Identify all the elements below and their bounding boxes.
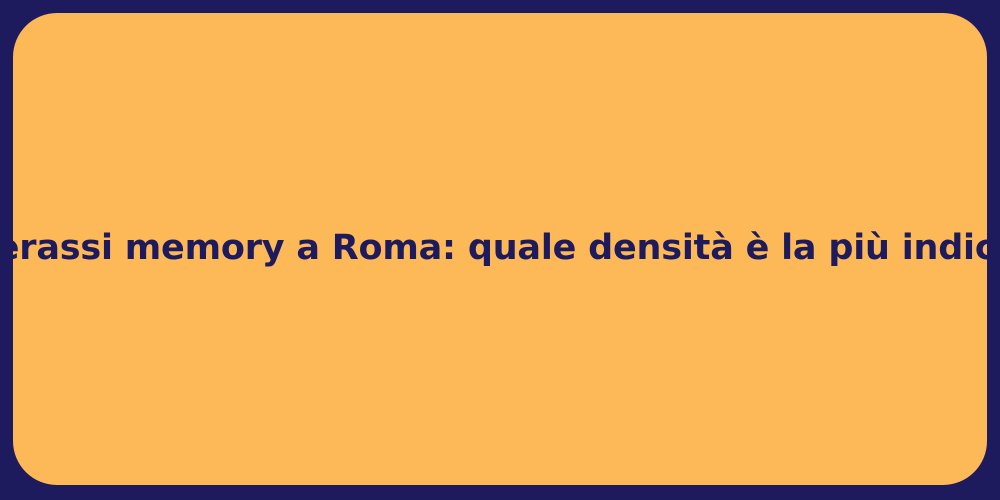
page-frame: Materassi memory a Roma: quale densità è…	[0, 0, 1000, 500]
page-title: Materassi memory a Roma: quale densità è…	[0, 227, 1000, 271]
headline-card: Materassi memory a Roma: quale densità è…	[13, 13, 987, 485]
